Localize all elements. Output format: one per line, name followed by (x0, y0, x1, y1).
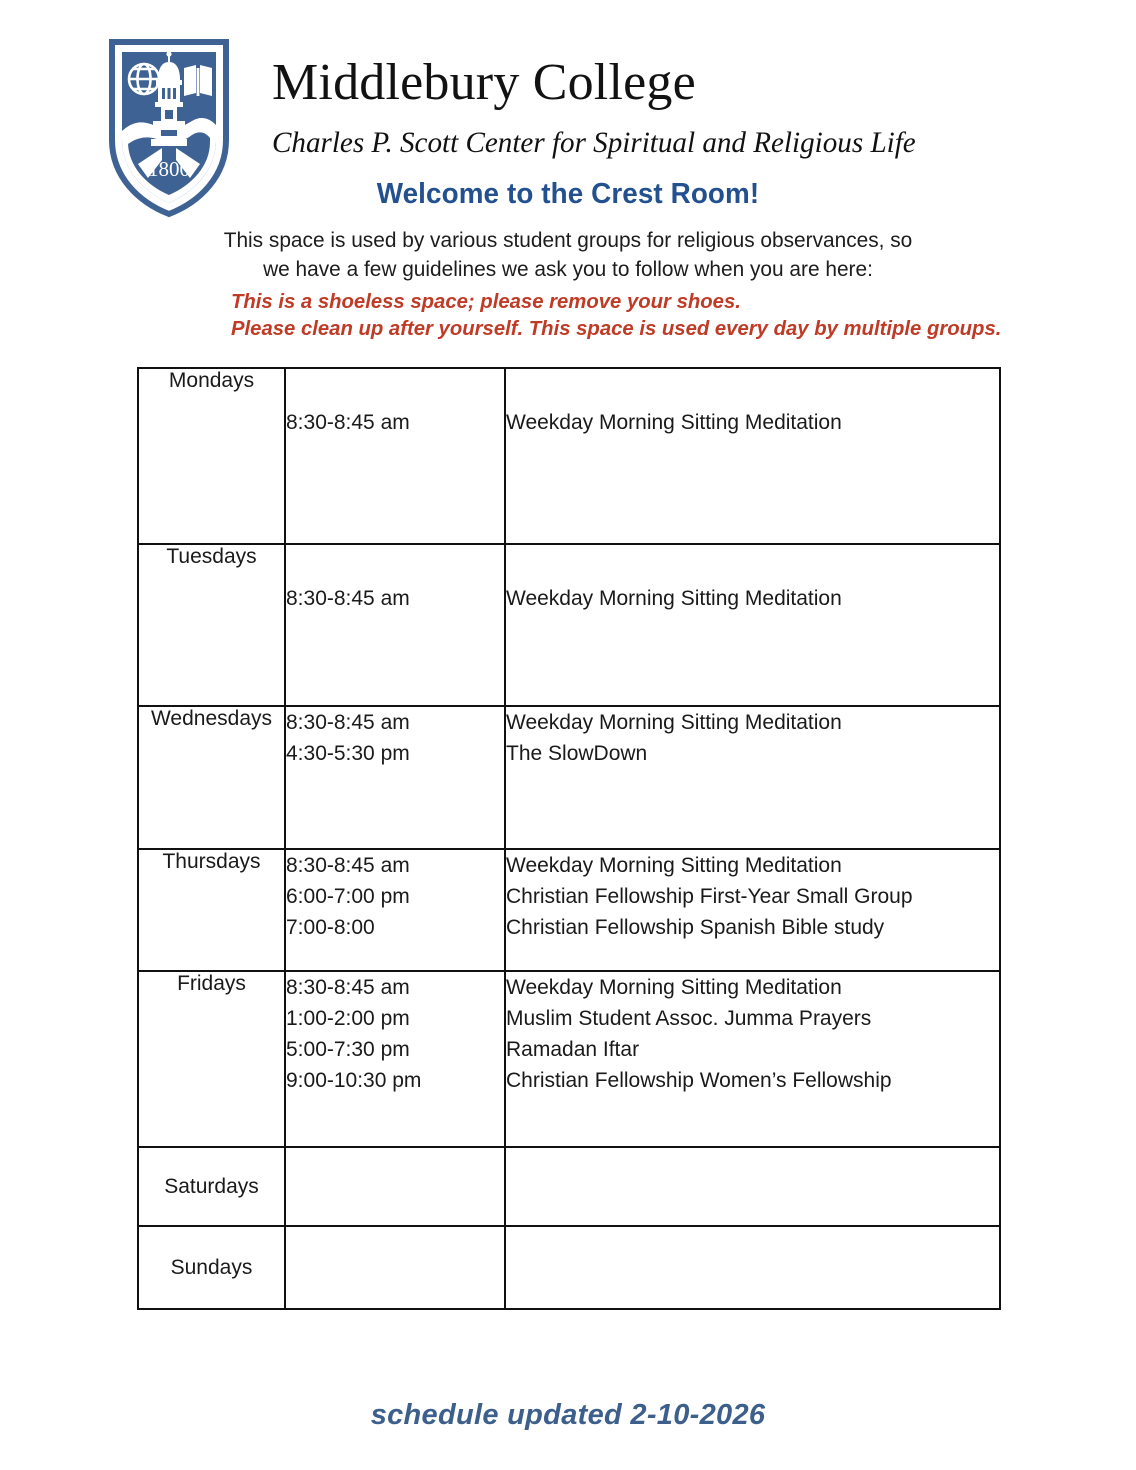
table-row: Thursdays 8:30-8:45 am 6:00-7:00 pm 7:00… (138, 849, 1000, 971)
times-cell-mondays: 8:30-8:45 am (285, 368, 505, 544)
times-cell-fridays: 8:30-8:45 am 1:00-2:00 pm 5:00-7:30 pm 9… (285, 971, 505, 1147)
day-label-tuesdays: Tuesdays (138, 544, 285, 706)
guideline-shoeless: This is a shoeless space; please remove … (231, 289, 1001, 316)
events-cell-wednesdays: Weekday Morning Sitting Meditation The S… (505, 706, 1000, 849)
day-label-fridays: Fridays (138, 971, 285, 1147)
events-cell-fridays: Weekday Morning Sitting Meditation Musli… (505, 971, 1000, 1147)
intro-paragraph: This space is used by various student gr… (0, 226, 1136, 283)
day-label-saturdays: Saturdays (138, 1147, 285, 1226)
table-row: Saturdays (138, 1147, 1000, 1226)
page-title: Welcome to the Crest Room! (23, 178, 1114, 211)
day-label-thursdays: Thursdays (138, 849, 285, 971)
day-label-sundays: Sundays (138, 1226, 285, 1309)
events-cell-thursdays: Weekday Morning Sitting Meditation Chris… (505, 849, 1000, 971)
events-cell-tuesdays: Weekday Morning Sitting Meditation (505, 544, 1000, 706)
events-cell-saturdays (505, 1147, 1000, 1226)
intro-line-1: This space is used by various student gr… (17, 226, 1119, 255)
table-row: Fridays 8:30-8:45 am 1:00-2:00 pm 5:00-7… (138, 971, 1000, 1147)
times-cell-saturdays (285, 1147, 505, 1226)
table-row: Wednesdays 8:30-8:45 am 4:30-5:30 pm Wee… (138, 706, 1000, 849)
college-name: Middlebury College (272, 57, 696, 109)
guideline-cleanup: Please clean up after yourself. This spa… (231, 316, 1001, 343)
times-cell-thursdays: 8:30-8:45 am 6:00-7:00 pm 7:00-8:00 (285, 849, 505, 971)
weekly-schedule-table: Mondays 8:30-8:45 am Weekday Morning Sit… (137, 367, 1001, 1310)
guidelines-notice: This is a shoeless space; please remove … (231, 289, 1009, 342)
times-cell-sundays (285, 1226, 505, 1309)
day-label-mondays: Mondays (138, 368, 285, 544)
events-cell-sundays (505, 1226, 1000, 1309)
times-cell-tuesdays: 8:30-8:45 am (285, 544, 505, 706)
schedule-table-container: Mondays 8:30-8:45 am Weekday Morning Sit… (137, 367, 1001, 1310)
center-name: Charles P. Scott Center for Spiritual an… (272, 127, 916, 159)
table-row: Tuesdays 8:30-8:45 am Weekday Morning Si… (138, 544, 1000, 706)
schedule-updated-footer: schedule updated 2-10-2026 (0, 1399, 1136, 1432)
table-row: Sundays (138, 1226, 1000, 1309)
events-cell-mondays: Weekday Morning Sitting Meditation (505, 368, 1000, 544)
table-row: Mondays 8:30-8:45 am Weekday Morning Sit… (138, 368, 1000, 544)
times-cell-wednesdays: 8:30-8:45 am 4:30-5:30 pm (285, 706, 505, 849)
page-header: 1800 Middlebury College Charles P. Scott… (0, 0, 1136, 218)
intro-line-2: we have a few guidelines we ask you to f… (17, 255, 1119, 284)
day-label-wednesdays: Wednesdays (138, 706, 285, 849)
